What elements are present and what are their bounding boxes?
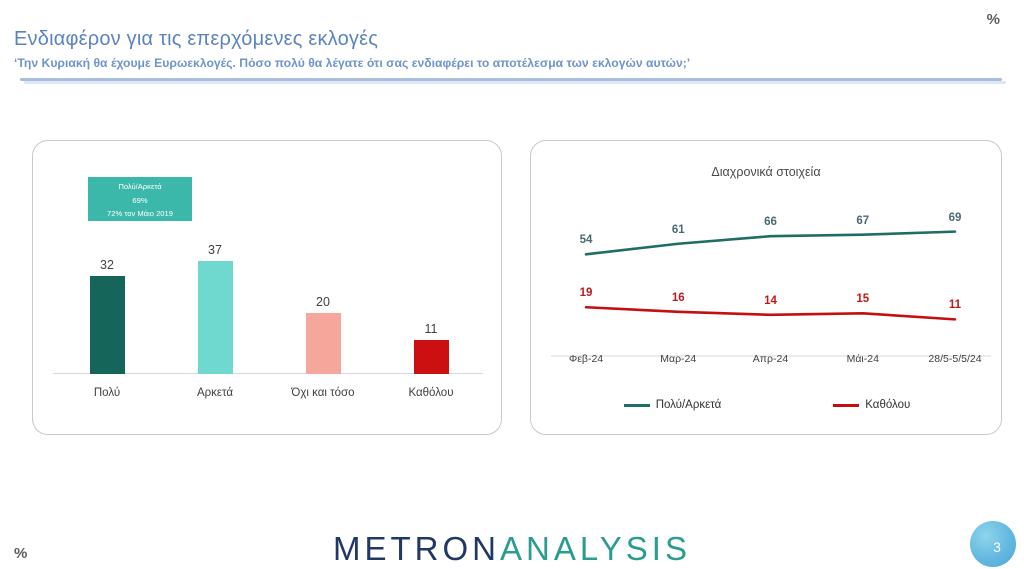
bar-rect [306, 313, 341, 374]
bar-value-label: 20 [269, 295, 377, 309]
header-divider [20, 78, 1002, 81]
line-point-label: 54 [580, 234, 593, 246]
bar-category-label: Καθόλου [377, 374, 485, 399]
legend-item[interactable]: Πολύ/Αρκετά [624, 399, 722, 411]
slide-header: Ενδιαφέρον για τις επερχόμενες εκλογές ‘… [0, 0, 1024, 96]
bar-category-label: Αρκετά [161, 374, 269, 399]
legend-label: Καθόλου [865, 399, 910, 411]
bar-category-label: Πολύ [53, 374, 161, 399]
line-point-label: 67 [856, 215, 869, 227]
legend-swatch-icon [624, 404, 650, 407]
page-title: Ενδιαφέρον για τις επερχόμενες εκλογές [14, 28, 378, 51]
metron-analysis-logo: METRONANALYSIS [333, 530, 691, 568]
legend-item[interactable]: Καθόλου [833, 399, 910, 411]
callout-line-2: 69% [88, 194, 192, 208]
line-point-label: 19 [580, 287, 593, 299]
bar-value-label: 37 [161, 243, 269, 257]
line-point-label: 15 [856, 293, 869, 305]
line-point-label: 61 [672, 224, 685, 236]
bar-value-label: 11 [377, 322, 485, 336]
header-divider-shadow [24, 81, 1006, 84]
bar-rect [90, 276, 125, 374]
bar-column: 20Όχι και τόσο [269, 313, 377, 374]
bar-chart-panel: Πολύ/Αρκετά 69% 72% τον Μάιο 2019 32Πολύ… [32, 140, 502, 435]
line-chart-title: Διαχρονικά στοιχεία [531, 165, 1001, 179]
bar-rect [198, 261, 233, 374]
callout-box: Πολύ/Αρκετά 69% 72% τον Μάιο 2019 [88, 177, 192, 221]
line-point-label: 69 [949, 212, 962, 224]
legend-label: Πολύ/Αρκετά [656, 399, 722, 411]
line-series-path [586, 307, 955, 319]
line-point-label: 16 [672, 292, 685, 304]
slide: Ενδιαφέρον για τις επερχόμενες εκλογές ‘… [0, 0, 1024, 569]
percent-mark-bottom-left: % [14, 545, 27, 562]
line-point-label: 14 [764, 295, 777, 307]
percent-mark-top-right: % [987, 11, 1000, 28]
line-point-label: 66 [764, 216, 777, 228]
line-x-tick-label: Φεβ-24 [569, 353, 603, 365]
callout-line-1: Πολύ/Αρκετά [88, 180, 192, 194]
line-chart-x-axis: Φεβ-24Μαρ-24Απρ-24Μάι-2428/5-5/5/24 [541, 353, 993, 373]
bar-category-label: Όχι και τόσο [269, 374, 377, 399]
bar-value-label: 32 [53, 258, 161, 272]
callout-line-3: 72% τον Μάιο 2019 [88, 207, 192, 221]
bar-column: 37Αρκετά [161, 261, 269, 374]
line-x-tick-label: Μαρ-24 [660, 353, 696, 365]
line-chart-panel: Διαχρονικά στοιχεία Φεβ-24Μαρ-24Απρ-24Μά… [530, 140, 1002, 435]
line-point-label: 11 [949, 299, 961, 311]
line-chart-legend: Πολύ/ΑρκετάΚαθόλου [531, 399, 1003, 411]
legend-swatch-icon [833, 404, 859, 407]
logo-analysis: ANALYSIS [500, 530, 691, 567]
page-number: 3 [985, 533, 1001, 555]
line-x-tick-label: Μάι-24 [847, 353, 879, 365]
line-x-tick-label: Απρ-24 [753, 353, 788, 365]
line-x-tick-label: 28/5-5/5/24 [928, 353, 981, 365]
line-series-path [586, 232, 955, 255]
bar-chart: 32Πολύ37Αρκετά20Όχι και τόσο11Καθόλου [47, 241, 489, 411]
bar-column: 32Πολύ [53, 276, 161, 374]
bar-column: 11Καθόλου [377, 340, 485, 374]
line-chart: Φεβ-24Μαρ-24Απρ-24Μάι-2428/5-5/5/24 5461… [541, 193, 993, 388]
bar-rect [414, 340, 449, 374]
page-number-badge: 3 [970, 521, 1016, 567]
logo-metron: METRON [333, 530, 500, 567]
page-subtitle: ‘Την Κυριακή θα έχουμε Ευρωεκλογές. Πόσο… [14, 56, 690, 70]
